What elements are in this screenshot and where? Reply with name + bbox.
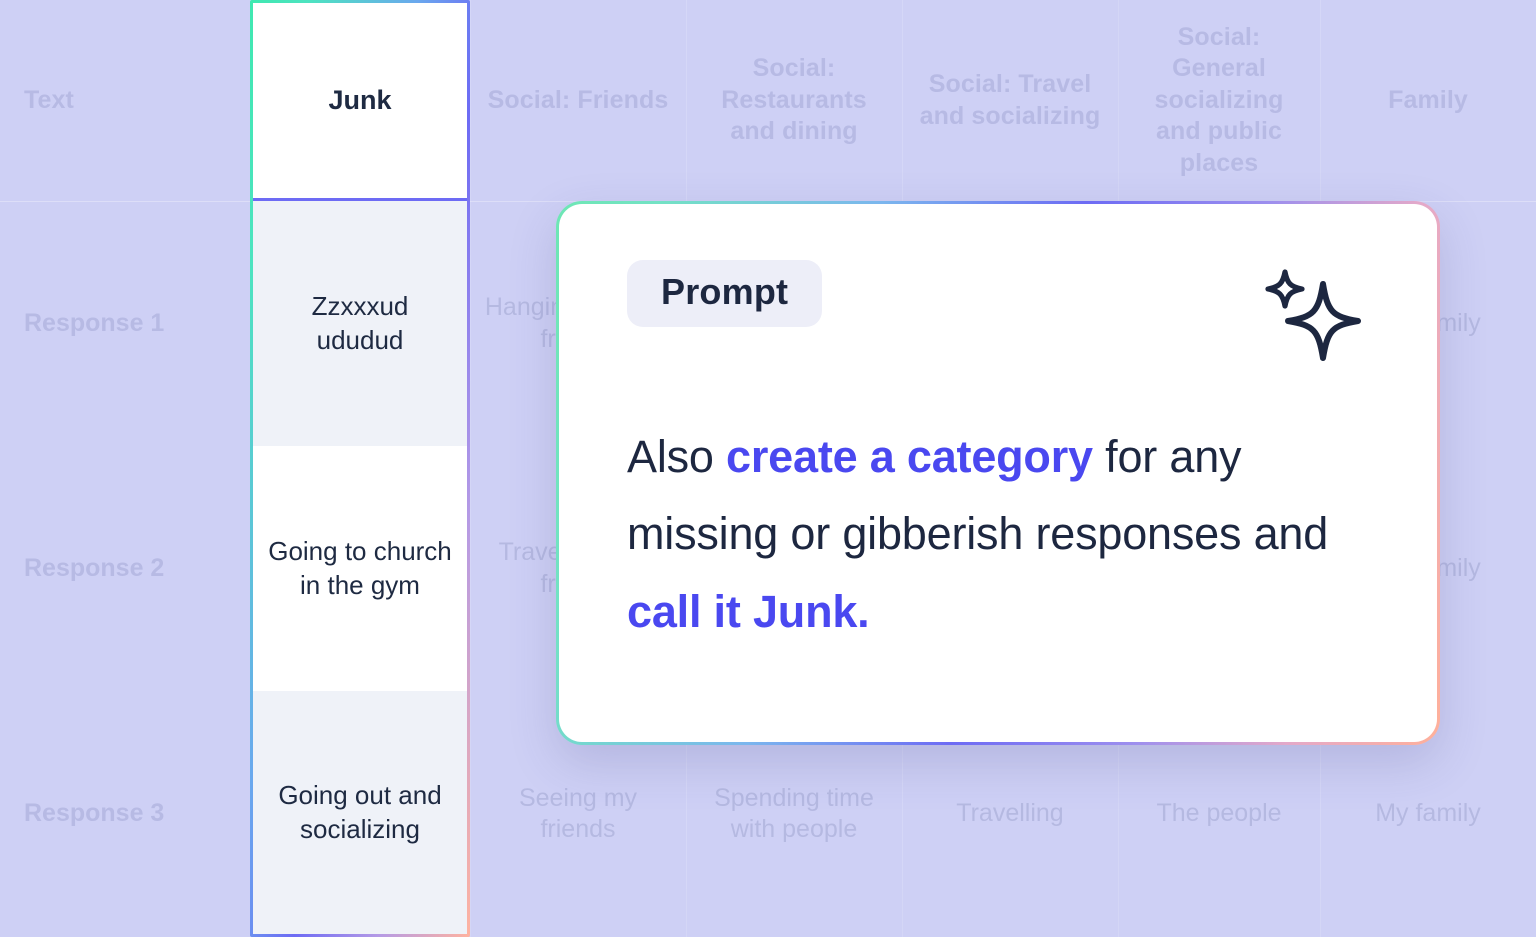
- prompt-text-emphasis: call it Junk.: [627, 586, 869, 637]
- junk-column-highlight[interactable]: Junk Zzxxxud ududud Going to church in t…: [250, 0, 470, 937]
- column-header-family: Family: [1320, 0, 1536, 201]
- prompt-card-header: Prompt: [627, 260, 1369, 362]
- row-label-response-1: Response 1: [0, 201, 248, 446]
- prompt-badge: Prompt: [627, 260, 822, 327]
- prompt-text-part: Also: [627, 431, 726, 482]
- sparkle-icon: [1259, 266, 1363, 362]
- junk-cell-response-3: Going out and socializing: [253, 691, 467, 934]
- prompt-text-emphasis: create a category: [726, 431, 1093, 482]
- junk-column-inner: Junk Zzxxxud ududud Going to church in t…: [253, 3, 467, 934]
- column-header-social-restaurants: Social: Restaurants and dining: [686, 0, 902, 201]
- prompt-text: Also create a category for any missing o…: [627, 418, 1369, 650]
- column-header-text: Text: [0, 0, 248, 201]
- screenshot-root: Text Social: Friends Social: Restaurants…: [0, 0, 1536, 937]
- column-header-social-friends: Social: Friends: [470, 0, 686, 201]
- column-header-social-travel: Social: Travel and socializing: [902, 0, 1118, 201]
- junk-column-header: Junk: [253, 3, 467, 201]
- prompt-card-inner: Prompt Also create a category for any mi…: [559, 204, 1437, 742]
- column-header-social-general: Social: General socializing and public p…: [1118, 0, 1320, 201]
- row-label-response-2: Response 2: [0, 446, 248, 691]
- prompt-card: Prompt Also create a category for any mi…: [556, 201, 1440, 745]
- junk-cell-response-1: Zzxxxud ududud: [253, 201, 467, 446]
- row-label-response-3: Response 3: [0, 691, 248, 937]
- junk-cell-response-2: Going to church in the gym: [253, 446, 467, 691]
